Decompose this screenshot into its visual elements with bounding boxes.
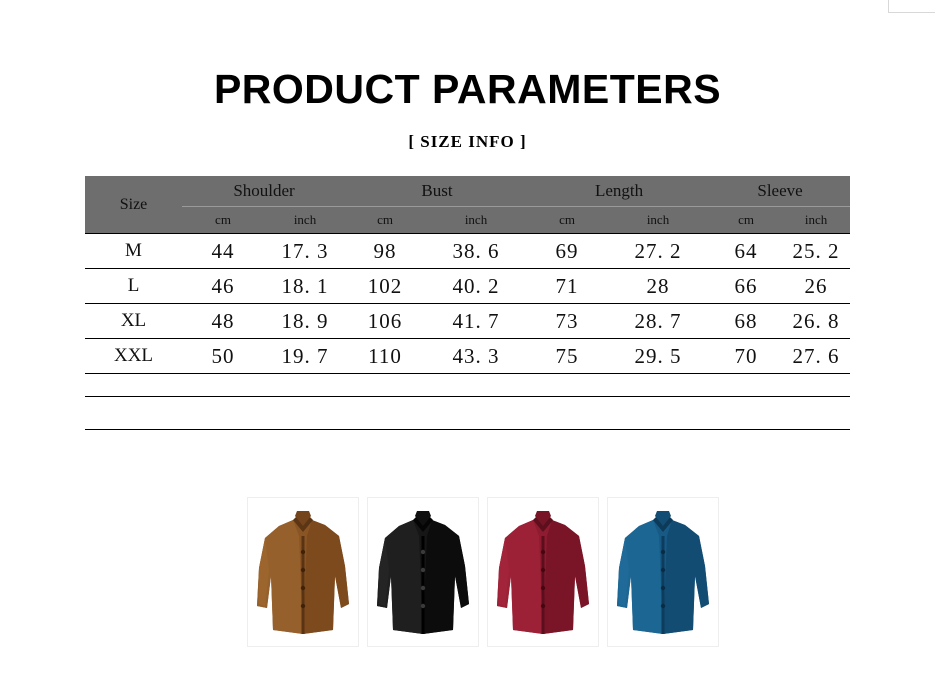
- table-row: XL 48 18. 9 106 41. 7 73 28. 7 68 26. 8: [85, 304, 850, 339]
- header-shoulder: Shoulder: [182, 176, 346, 207]
- cell-length-inch: 27. 2: [606, 234, 710, 269]
- cell-size: M: [85, 234, 182, 269]
- cell-bust-cm: 98: [346, 234, 424, 269]
- cell-length-cm: 73: [528, 304, 606, 339]
- cell-bust-inch: 41. 7: [424, 304, 528, 339]
- black-jacket-icon: [375, 506, 471, 638]
- cell-length-inch: 28. 7: [606, 304, 710, 339]
- camel-jacket-icon: [255, 506, 351, 638]
- cell-shoulder-inch: 17. 3: [264, 234, 346, 269]
- swatch-camel-jacket[interactable]: [247, 497, 359, 647]
- table-header-groups: Size Shoulder Bust Length Sleeve: [85, 176, 850, 207]
- header-unit-sleeve-cm: cm: [710, 207, 782, 234]
- header-bust: Bust: [346, 176, 528, 207]
- blue-jacket-icon: [615, 506, 711, 638]
- cell-sleeve-cm: 66: [710, 269, 782, 304]
- cell-sleeve-inch: 26. 8: [782, 304, 850, 339]
- size-table-container: Size Shoulder Bust Length Sleeve cm inch…: [85, 176, 850, 374]
- header-unit-bust-cm: cm: [346, 207, 424, 234]
- header-unit-length-inch: inch: [606, 207, 710, 234]
- swatch-wine-jacket[interactable]: [487, 497, 599, 647]
- size-table: Size Shoulder Bust Length Sleeve cm inch…: [85, 176, 850, 374]
- cell-length-cm: 71: [528, 269, 606, 304]
- corner-mark: [888, 0, 935, 13]
- cell-bust-inch: 40. 2: [424, 269, 528, 304]
- swatch-black-jacket[interactable]: [367, 497, 479, 647]
- cell-shoulder-cm: 46: [182, 269, 264, 304]
- cell-bust-cm: 102: [346, 269, 424, 304]
- cell-size: L: [85, 269, 182, 304]
- color-swatch-row: [247, 497, 719, 647]
- page-subtitle: [ SIZE INFO ]: [0, 113, 935, 152]
- header-unit-shoulder-cm: cm: [182, 207, 264, 234]
- table-row: L 46 18. 1 102 40. 2 71 28 66 26: [85, 269, 850, 304]
- product-parameters-page: PRODUCT PARAMETERS [ SIZE INFO ] Size Sh…: [0, 0, 935, 684]
- table-row: M 44 17. 3 98 38. 6 69 27. 2 64 25. 2: [85, 234, 850, 269]
- header-unit-sleeve-inch: inch: [782, 207, 850, 234]
- header-unit-length-cm: cm: [528, 207, 606, 234]
- blank-row: [85, 364, 850, 397]
- cell-shoulder-cm: 48: [182, 304, 264, 339]
- cell-sleeve-cm: 64: [710, 234, 782, 269]
- page-title: PRODUCT PARAMETERS: [0, 0, 935, 113]
- cell-bust-inch: 38. 6: [424, 234, 528, 269]
- cell-shoulder-inch: 18. 1: [264, 269, 346, 304]
- cell-length-cm: 69: [528, 234, 606, 269]
- blank-row: [85, 397, 850, 430]
- cell-sleeve-inch: 25. 2: [782, 234, 850, 269]
- cell-sleeve-inch: 26: [782, 269, 850, 304]
- cell-sleeve-cm: 68: [710, 304, 782, 339]
- cell-shoulder-inch: 18. 9: [264, 304, 346, 339]
- cell-shoulder-cm: 44: [182, 234, 264, 269]
- header-unit-bust-inch: inch: [424, 207, 528, 234]
- table-header-units: cm inch cm inch cm inch cm inch: [85, 207, 850, 234]
- cell-length-inch: 28: [606, 269, 710, 304]
- cell-bust-cm: 106: [346, 304, 424, 339]
- header-sleeve: Sleeve: [710, 176, 850, 207]
- header-length: Length: [528, 176, 710, 207]
- header-size: Size: [85, 176, 182, 234]
- blank-rows: [85, 364, 850, 430]
- wine-jacket-icon: [495, 506, 591, 638]
- swatch-blue-jacket[interactable]: [607, 497, 719, 647]
- header-unit-shoulder-inch: inch: [264, 207, 346, 234]
- cell-size: XL: [85, 304, 182, 339]
